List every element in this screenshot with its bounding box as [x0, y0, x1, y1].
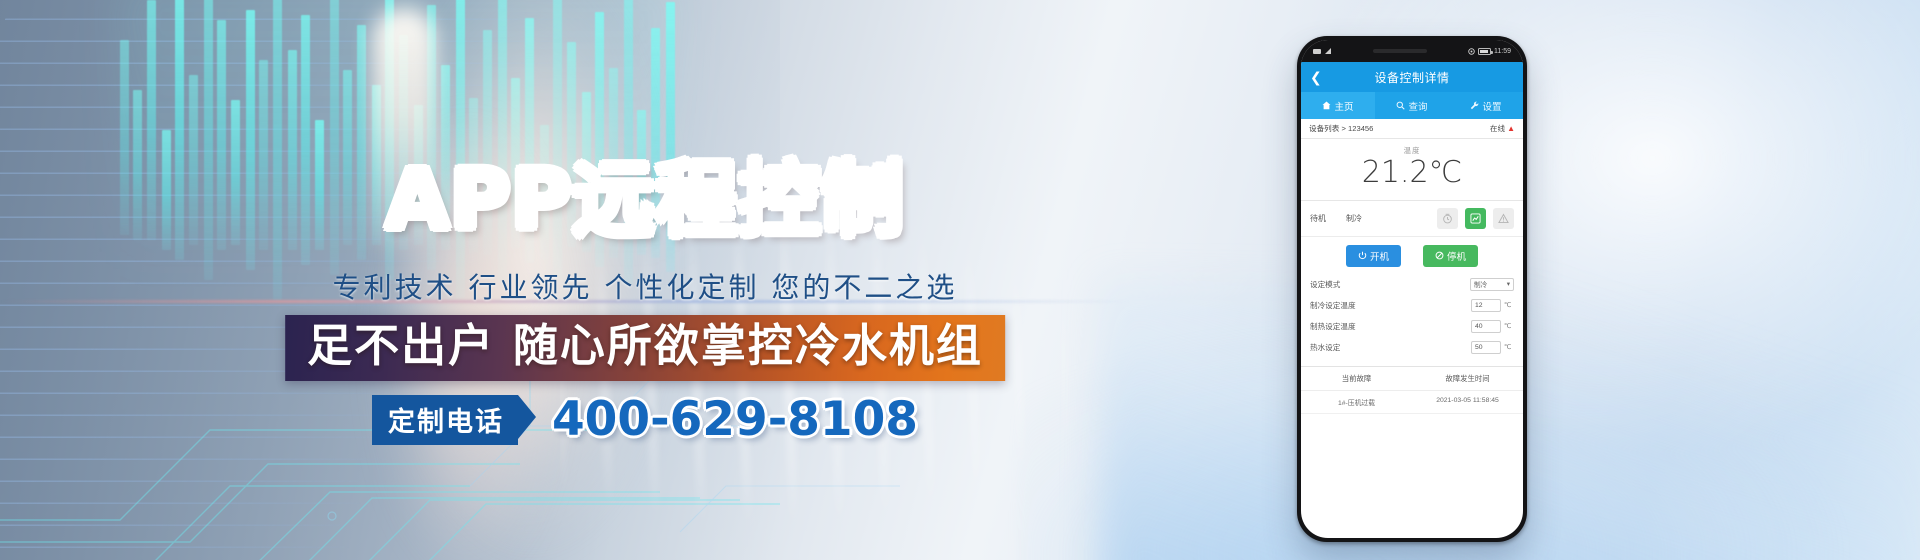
power-icon: [1358, 251, 1367, 260]
temperature-value: 21.2℃: [1301, 156, 1523, 190]
quick-action-icons: [1437, 208, 1514, 229]
table-row[interactable]: 1#-压机过载 2021-03-05 11:58:45: [1301, 391, 1523, 414]
location-icon: [1468, 48, 1475, 55]
hotwater-unit: ℃: [1504, 343, 1514, 351]
phone-tab-bar: 主页 查询 设置: [1301, 92, 1523, 119]
fault-table-col-time: 故障发生时间: [1412, 367, 1523, 390]
mode-select[interactable]: 制冷 ▾: [1470, 278, 1514, 291]
status-bar-time: 11:59: [1494, 48, 1511, 55]
timer-icon-button[interactable]: [1437, 208, 1458, 229]
home-icon: [1322, 101, 1331, 110]
heat-temp-unit: ℃: [1504, 322, 1514, 330]
state-chip-standby: 待机: [1310, 213, 1326, 224]
hero-subtitle: 专利技术 行业领先 个性化定制 您的不二之选: [0, 266, 1290, 306]
settings-form: 设定模式 制冷 ▾ 制冷设定温度 12 ℃ 制热设定温度 40: [1301, 274, 1523, 358]
status-badge: 在线 ▲: [1490, 123, 1515, 134]
hero-ribbon: 足不出户 随心所欲掌控冷水机组: [285, 315, 1005, 381]
chevron-left-icon[interactable]: ❮: [1310, 70, 1322, 84]
warning-triangle-icon: ▲: [1507, 124, 1515, 133]
phone-status-bar: 11:59: [1301, 40, 1523, 62]
tab-query[interactable]: 查询: [1375, 92, 1449, 119]
contact-row: 定制电话 400-629-8108: [0, 392, 1290, 447]
page-title-text: APP远程控制: [386, 153, 905, 248]
status-bar-left-icons: [1313, 48, 1332, 55]
form-control-mode: 制冷 ▾: [1470, 278, 1514, 291]
alarm-icon: [1498, 213, 1509, 224]
power-off-label: 停机: [1447, 249, 1466, 263]
tab-home[interactable]: 主页: [1301, 92, 1375, 119]
search-icon: [1396, 101, 1405, 110]
alarm-icon-button[interactable]: [1493, 208, 1514, 229]
form-row-mode: 设定模式 制冷 ▾: [1310, 274, 1514, 295]
power-on-label: 开机: [1370, 249, 1389, 263]
hero-copy: APP远程控制 专利技术 行业领先 个性化定制 您的不二之选 足不出户 随心所欲…: [0, 0, 1290, 560]
form-control-hotwater: 50 ℃: [1471, 341, 1514, 354]
status-bar-right-icons: 11:59: [1468, 48, 1511, 55]
fault-time-cell: 2021-03-05 11:58:45: [1412, 391, 1523, 413]
contact-phone-number[interactable]: 400-629-8108: [552, 392, 918, 447]
fault-table-header: 当前故障 故障发生时间: [1301, 367, 1523, 391]
form-control-cool-temp: 12 ℃: [1471, 299, 1514, 312]
chart-icon: [1470, 213, 1481, 224]
fault-table: 当前故障 故障发生时间 1#-压机过载 2021-03-05 11:58:45: [1301, 366, 1523, 414]
form-row-heat-temp: 制热设定温度 40 ℃: [1310, 316, 1514, 337]
chart-icon-button[interactable]: [1465, 208, 1486, 229]
signal-icon: [1325, 48, 1332, 55]
phone-app-bar: ❮ 设备控制详情: [1301, 62, 1523, 92]
breadcrumb[interactable]: 设备列表 > 123456: [1309, 123, 1373, 134]
power-on-button[interactable]: 开机: [1346, 245, 1401, 267]
device-state-row: 待机 制冷: [1301, 201, 1523, 237]
cool-temp-unit: ℃: [1504, 301, 1514, 309]
phone-speaker-notch: [1373, 49, 1427, 53]
hotwater-input[interactable]: 50: [1471, 341, 1501, 354]
battery-icon: [1478, 48, 1491, 55]
breadcrumb-bar: 设备列表 > 123456 在线 ▲: [1301, 119, 1523, 139]
power-controls: 开机 停机: [1301, 237, 1523, 274]
hero-ribbon-text: 足不出户 随心所欲掌控冷水机组: [307, 322, 983, 371]
status-badge-label: 在线: [1490, 123, 1505, 134]
sim-icon: [1313, 48, 1322, 55]
heat-temp-input[interactable]: 40: [1471, 320, 1501, 333]
tab-settings[interactable]: 设置: [1449, 92, 1523, 119]
mode-select-value: 制冷: [1474, 279, 1487, 289]
temperature-panel: 温度 21.2℃: [1301, 139, 1523, 201]
fault-name-cell: 1#-压机过载: [1301, 391, 1412, 413]
form-label-hotwater: 热水设定: [1310, 342, 1340, 353]
tab-home-label: 主页: [1334, 99, 1353, 113]
page-title: APP远程控制: [0, 160, 1290, 242]
phone-mockup: 11:59 ❮ 设备控制详情 主页 查询 设置 设备列表 > 123456: [1297, 36, 1527, 542]
form-row-cool-temp: 制冷设定温度 12 ℃: [1310, 295, 1514, 316]
tab-query-label: 查询: [1408, 99, 1427, 113]
timer-icon: [1442, 213, 1453, 224]
form-label-mode: 设定模式: [1310, 279, 1340, 290]
form-row-hotwater: 热水设定 50 ℃: [1310, 337, 1514, 358]
fault-table-col-fault: 当前故障: [1301, 367, 1412, 390]
wrench-icon: [1470, 101, 1479, 110]
cool-temp-input[interactable]: 12: [1471, 299, 1501, 312]
power-off-button[interactable]: 停机: [1423, 245, 1478, 267]
state-chip-mode: 制冷: [1346, 213, 1362, 224]
chevron-down-icon: ▾: [1507, 280, 1510, 288]
form-label-heat-temp: 制热设定温度: [1310, 321, 1356, 332]
tab-settings-label: 设置: [1482, 99, 1501, 113]
form-control-heat-temp: 40 ℃: [1471, 320, 1514, 333]
contact-label-tag: 定制电话: [372, 395, 518, 445]
form-label-cool-temp: 制冷设定温度: [1310, 300, 1356, 311]
app-bar-title: 设备控制详情: [1301, 69, 1523, 86]
stop-icon: [1435, 251, 1444, 260]
phone-screen: 11:59 ❮ 设备控制详情 主页 查询 设置 设备列表 > 123456: [1301, 40, 1523, 538]
